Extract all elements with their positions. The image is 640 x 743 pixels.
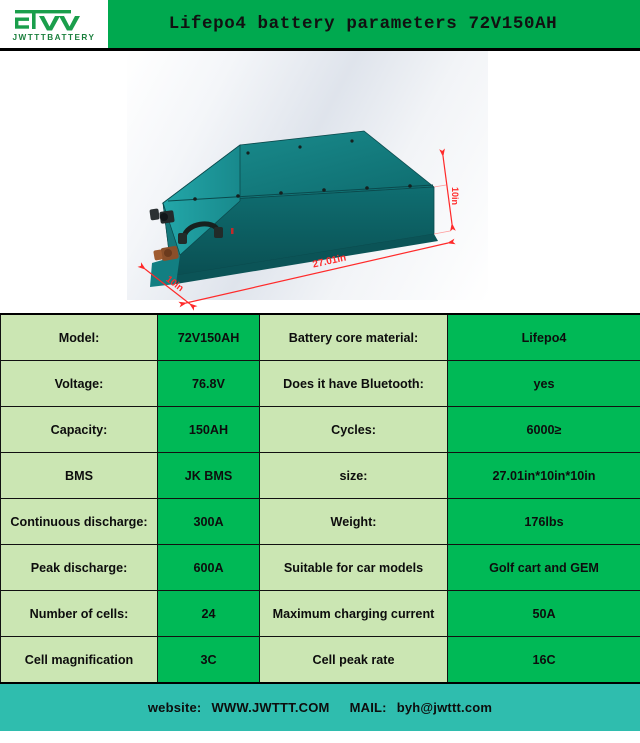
spec-label: size: (260, 453, 448, 499)
table-row: Number of cells: 24 Maximum charging cur… (1, 591, 640, 637)
spec-label: Peak discharge: (1, 545, 158, 591)
spec-label: Capacity: (1, 407, 158, 453)
page-title: Lifepo4 battery parameters 72V150AH (108, 14, 640, 34)
website-label: website: (148, 700, 202, 715)
page-header: JWTTTBATTERY Lifepo4 battery parameters … (0, 0, 640, 48)
spec-value: 300A (158, 499, 260, 545)
battery-render: 10in 27.01in 10in (0, 51, 640, 313)
spec-label: Voltage: (1, 361, 158, 407)
spec-value: 600A (158, 545, 260, 591)
spec-label: Weight: (260, 499, 448, 545)
table-row: Cell magnification 3C Cell peak rate 16C (1, 637, 640, 684)
spec-label: Does it have Bluetooth: (260, 361, 448, 407)
mail-value[interactable]: byh@jwttt.com (397, 700, 492, 715)
spec-value: 24 (158, 591, 260, 637)
spec-label: Battery core material: (260, 314, 448, 361)
table-row: Voltage: 76.8V Does it have Bluetooth: y… (1, 361, 640, 407)
spec-value: 72V150AH (158, 314, 260, 361)
spec-label: Suitable for car models (260, 545, 448, 591)
page-footer: website:WWW.JWTTT.COMMAIL:byh@jwttt.com (0, 684, 640, 731)
spec-label: Cell peak rate (260, 637, 448, 684)
table-row: Model: 72V150AH Battery core material: L… (1, 314, 640, 361)
table-row: Capacity: 150AH Cycles: 6000≥ (1, 407, 640, 453)
spec-value: 16C (448, 637, 640, 684)
spec-label: Model: (1, 314, 158, 361)
spec-label: Continuous discharge: (1, 499, 158, 545)
spec-label: BMS (1, 453, 158, 499)
specification-table: Model: 72V150AH Battery core material: L… (0, 313, 640, 684)
spec-value: yes (448, 361, 640, 407)
table-row: Continuous discharge: 300A Weight: 176lb… (1, 499, 640, 545)
product-image-area: 10in 27.01in 10in (0, 51, 640, 313)
spec-value: 27.01in*10in*10in (448, 453, 640, 499)
spec-label: Cycles: (260, 407, 448, 453)
spec-value: 176lbs (448, 499, 640, 545)
spec-value: 6000≥ (448, 407, 640, 453)
spec-label: Cell magnification (1, 637, 158, 684)
brand-logo: JWTTTBATTERY (0, 0, 108, 48)
jw-monogram-icon (11, 8, 97, 32)
spec-value: 76.8V (158, 361, 260, 407)
table-row: Peak discharge: 600A Suitable for car mo… (1, 545, 640, 591)
battery-terminal-icon (153, 246, 179, 262)
spec-label: Maximum charging current (260, 591, 448, 637)
mail-label: MAIL: (350, 700, 387, 715)
spec-value: Golf cart and GEM (448, 545, 640, 591)
spec-value: JK BMS (158, 453, 260, 499)
spec-label: Number of cells: (1, 591, 158, 637)
spec-value: 150AH (158, 407, 260, 453)
spec-value: Lifepo4 (448, 314, 640, 361)
contact-line: website:WWW.JWTTT.COMMAIL:byh@jwttt.com (148, 700, 492, 715)
brand-wordmark: JWTTTBATTERY (12, 33, 95, 43)
website-value[interactable]: WWW.JWTTT.COM (211, 700, 329, 715)
table-row: BMS JK BMS size: 27.01in*10in*10in (1, 453, 640, 499)
battery-connector-icon (149, 208, 174, 224)
dimension-height-label: 10in (450, 187, 460, 205)
spec-value: 3C (158, 637, 260, 684)
spec-value: 50A (448, 591, 640, 637)
